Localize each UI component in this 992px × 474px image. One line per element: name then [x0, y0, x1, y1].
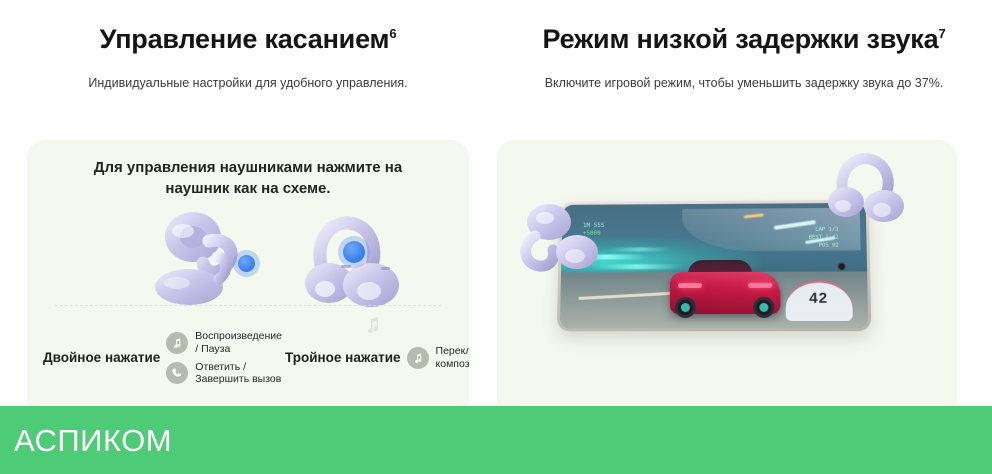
- action-answer-end-call: Ответить / Завершить вызов: [166, 361, 282, 387]
- left-subtitle: Индивидуальные настройки для удобного уп…: [0, 75, 496, 91]
- action-play-pause: Воспроизведение / Пауза: [166, 330, 282, 356]
- gesture-legend: Двойное нажатие Воспроизведение / Пауза: [27, 330, 469, 386]
- floating-earbud-side-icon: [515, 202, 611, 282]
- headline-column-left: Управление касанием6 Индивидуальные наст…: [0, 0, 496, 132]
- right-headline: Режим низкой задержки звука7: [496, 24, 992, 55]
- touch-card-heading: Для управления наушниками нажмите на нау…: [27, 158, 469, 199]
- car-wheel: [674, 297, 695, 318]
- action-text-answer-end-call: Ответить / Завершить вызов: [195, 361, 282, 387]
- brand-banner: АСПИКОМ: [0, 406, 992, 474]
- gesture-label-double: Двойное нажатие: [43, 350, 160, 367]
- gesture-label-triple: Тройное нажатие: [285, 350, 401, 367]
- action-text-play-pause: Воспроизведение / Пауза: [195, 330, 282, 356]
- left-headline-text: Управление касанием: [100, 24, 390, 54]
- earbud-open-fit-icon: [147, 207, 277, 317]
- right-headline-superscript: 7: [938, 26, 945, 41]
- left-headline: Управление касанием6: [0, 24, 496, 55]
- car-taillight: [678, 283, 702, 289]
- hud-position-value: POS 02: [809, 242, 839, 250]
- headline-band: Управление касанием6 Индивидуальные наст…: [0, 0, 992, 132]
- decorative-music-note-icon: [365, 316, 381, 334]
- front-camera-icon: [837, 263, 845, 271]
- car-taillight: [748, 282, 772, 288]
- hud-lap-value: LAP 1/3: [808, 225, 838, 233]
- card-divider: [55, 305, 441, 306]
- gesture-actions-double: Воспроизведение / Пауза Ответить / Завер…: [166, 330, 282, 386]
- right-subtitle: Включите игровой режим, чтобы уменьшить …: [496, 75, 992, 91]
- action-switch-track: Переключить композицию: [407, 345, 469, 371]
- phone-handset-icon: [166, 362, 188, 384]
- hud-speed-value: 42: [809, 289, 828, 306]
- hud-race-info: LAP 1/3 BEST 1:42 POS 02: [808, 225, 838, 250]
- promo-page: Управление касанием6 Индивидуальные наст…: [0, 0, 992, 474]
- music-note-icon: [166, 332, 188, 354]
- car-wheel: [753, 297, 774, 318]
- headline-column-right: Режим низкой задержки звука7 Включите иг…: [496, 0, 992, 132]
- left-headline-superscript: 6: [389, 26, 396, 41]
- action-text-switch-track: Переключить композицию: [436, 345, 469, 371]
- gesture-group-triple-tap: Тройное нажатие Переключить композицию: [285, 330, 469, 386]
- brand-banner-text: АСПИКОМ: [14, 425, 172, 456]
- hud-best-value: BEST 1:42: [809, 233, 839, 241]
- speed-streak: [610, 247, 671, 251]
- floating-earbud-top-icon: [822, 148, 908, 226]
- race-car: [670, 271, 781, 313]
- gesture-group-double-tap: Двойное нажатие Воспроизведение / Пауза: [43, 330, 275, 386]
- gesture-actions-triple: Переключить композицию: [407, 345, 469, 371]
- music-note-icon: [407, 347, 429, 369]
- earbuds-diagram: [27, 207, 469, 319]
- right-headline-text: Режим низкой задержки звука: [543, 24, 939, 54]
